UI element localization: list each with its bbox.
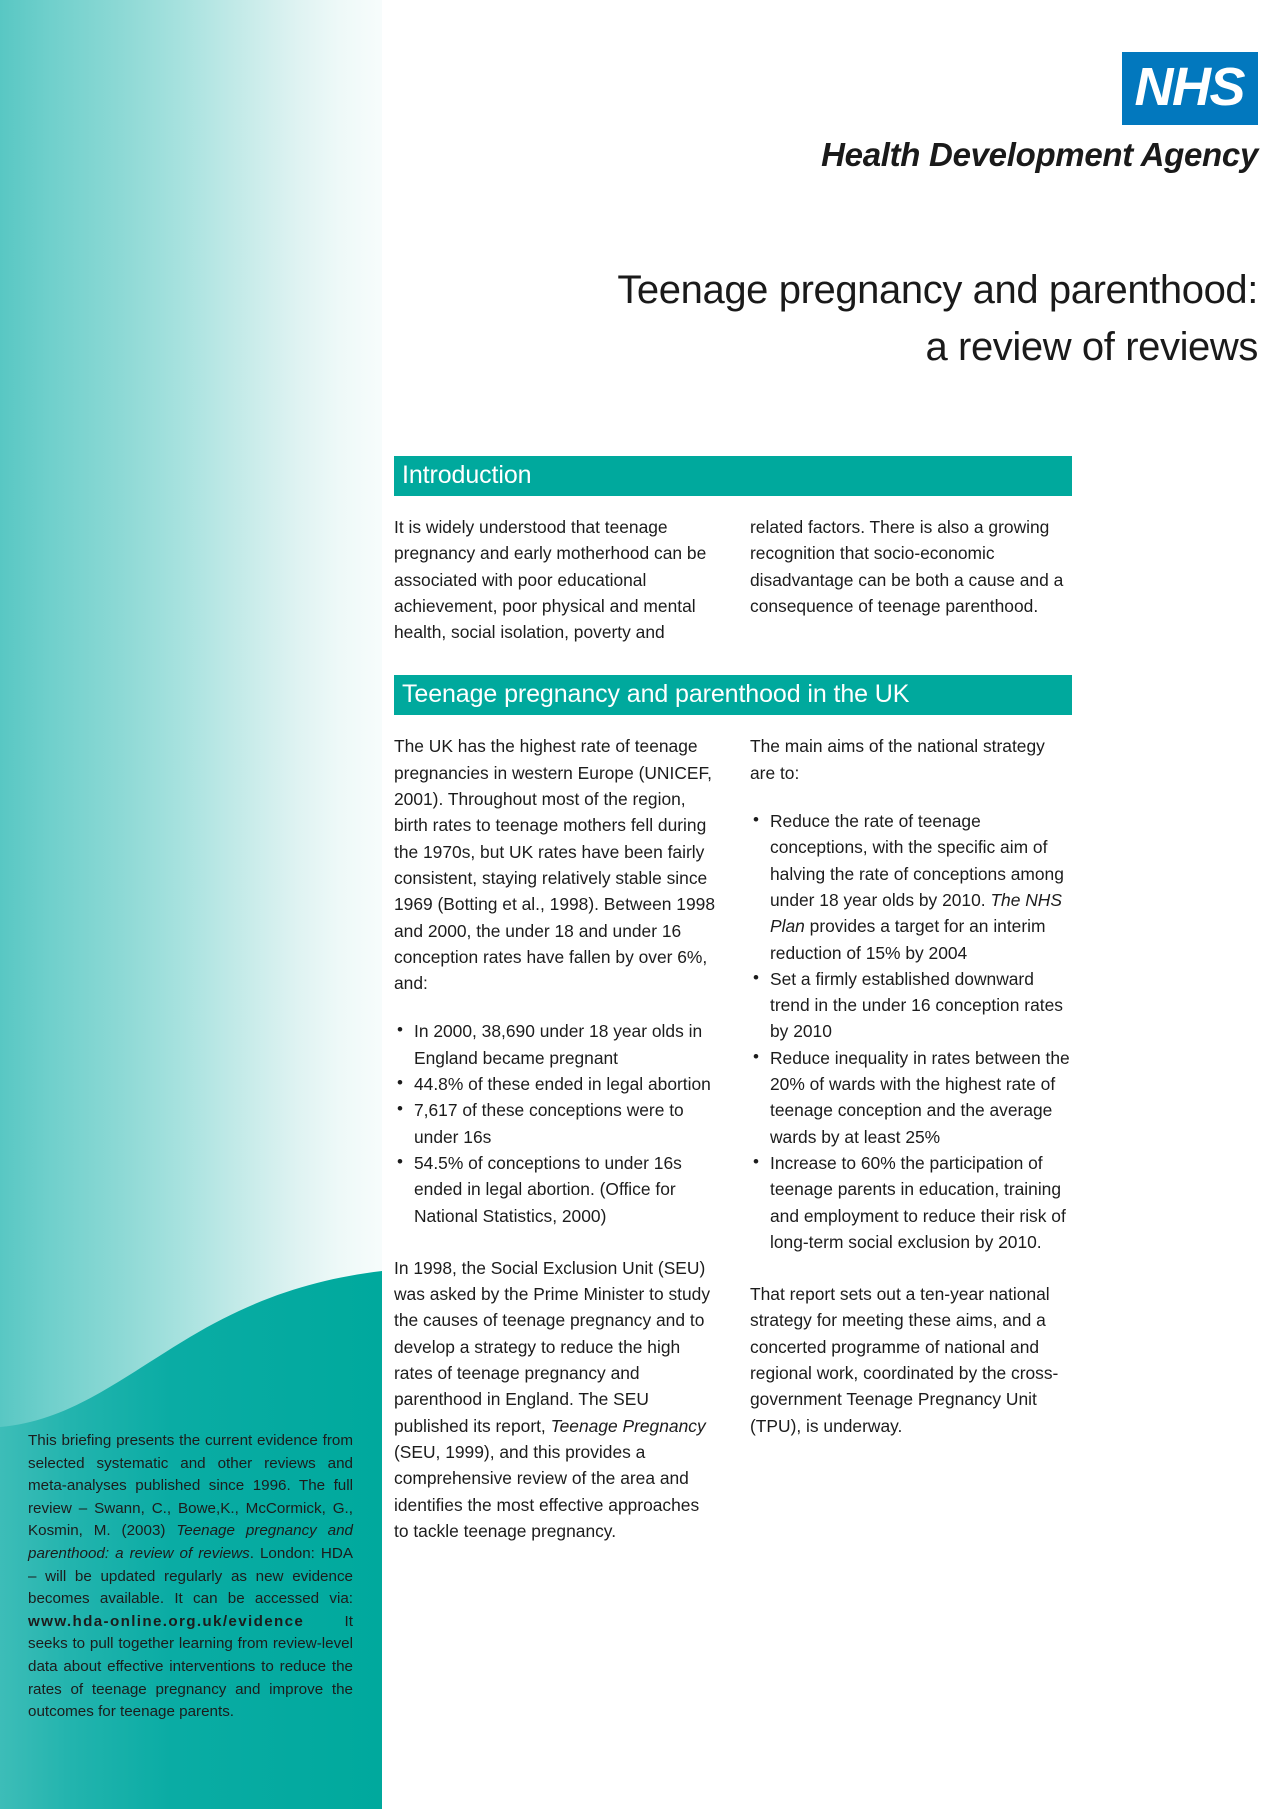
uk-columns: The UK has the highest rate of teenage p… — [394, 733, 1072, 1544]
uk-left-column: The UK has the highest rate of teenage p… — [394, 733, 716, 1544]
introduction-columns: It is widely understood that teenage pre… — [394, 514, 1072, 645]
seu-post: (SEU, 1999), and this provides a compreh… — [394, 1442, 699, 1541]
aim-1-post: provides a target for an interim reducti… — [770, 916, 1046, 962]
list-item: Reduce the rate of teenage conceptions, … — [750, 808, 1072, 966]
paragraph: It is widely understood that teenage pre… — [394, 514, 716, 645]
list-item: Increase to 60% the participation of tee… — [750, 1150, 1072, 1255]
title-line-2: a review of reviews — [558, 319, 1258, 376]
main-content-area: NHS Health Development Agency Teenage pr… — [382, 0, 1280, 1809]
sidebar-footer-text: This briefing presents the current evide… — [28, 1430, 353, 1724]
introduction-right-column: related factors. There is also a growing… — [750, 514, 1072, 645]
hda-website-link[interactable]: www.hda-online.org.uk/evidence — [28, 1613, 304, 1630]
list-item: 44.8% of these ended in legal abortion — [394, 1071, 716, 1097]
list-item: Reduce inequality in rates between the 2… — [750, 1045, 1072, 1150]
paragraph: The main aims of the national strategy a… — [750, 733, 1072, 786]
list-item: 54.5% of conceptions to under 16s ended … — [394, 1150, 716, 1229]
uk-right-bullet-list: Reduce the rate of teenage conceptions, … — [750, 808, 1072, 1255]
title-line-1: Teenage pregnancy and parenthood: — [558, 262, 1258, 319]
paragraph: That report sets out a ten-year national… — [750, 1281, 1072, 1439]
list-item: Set a firmly established downward trend … — [750, 966, 1072, 1045]
paragraph: In 1998, the Social Exclusion Unit (SEU)… — [394, 1255, 716, 1544]
section-heading-introduction: Introduction — [394, 456, 1072, 496]
introduction-left-column: It is widely understood that teenage pre… — [394, 514, 716, 645]
paragraph: related factors. There is also a growing… — [750, 514, 1072, 619]
agency-name: Health Development Agency — [821, 136, 1258, 174]
list-item: 7,617 of these conceptions were to under… — [394, 1097, 716, 1150]
left-sidebar: Evidence Briefing summary This briefing … — [0, 0, 382, 1809]
seu-pre: In 1998, the Social Exclusion Unit (SEU)… — [394, 1258, 710, 1436]
nhs-logo: NHS — [1122, 52, 1258, 125]
document-page: Evidence Briefing summary This briefing … — [0, 0, 1280, 1809]
uk-right-column: The main aims of the national strategy a… — [750, 733, 1072, 1544]
page-title: Teenage pregnancy and parenthood: a revi… — [558, 262, 1258, 376]
article-body: Introduction It is widely understood tha… — [394, 456, 1072, 1544]
uk-left-bullet-list: In 2000, 38,690 under 18 year olds in En… — [394, 1018, 716, 1228]
list-item: In 2000, 38,690 under 18 year olds in En… — [394, 1018, 716, 1071]
seu-report-title: Teenage Pregnancy — [551, 1416, 706, 1436]
section-heading-uk: Teenage pregnancy and parenthood in the … — [394, 675, 1072, 715]
paragraph: The UK has the highest rate of teenage p… — [394, 733, 716, 996]
